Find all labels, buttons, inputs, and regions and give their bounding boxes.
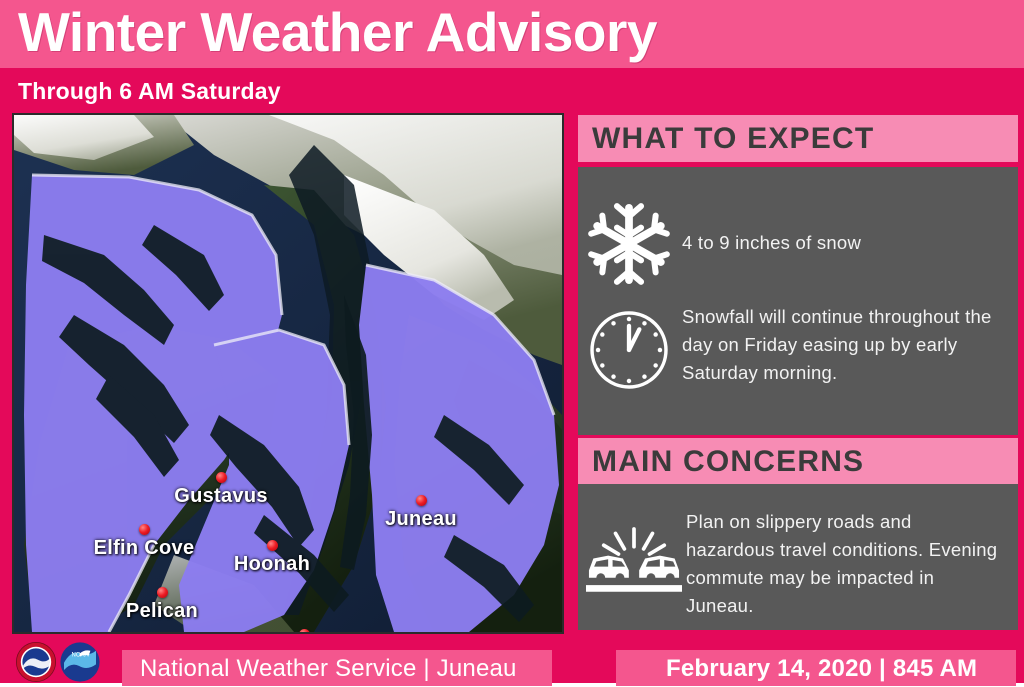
expect-text-snowfall-amount: 4 to 9 inches of snow — [682, 229, 1002, 257]
map-city-label: Pelican — [126, 600, 198, 623]
section-header-main-concerns: MAIN CONCERNS — [578, 438, 1018, 485]
section-body-what-to-expect: 4 to 9 inches of snow — [578, 167, 1018, 435]
map-city-label: Juneau — [385, 508, 457, 531]
clock-icon — [586, 307, 672, 393]
map-pin-icon — [267, 540, 278, 551]
map-pin-icon — [299, 629, 310, 635]
map-city-label: Elfin Cove — [94, 537, 195, 560]
advisory-valid-time: Through 6 AM Saturday — [18, 68, 281, 112]
snowflake-icon — [586, 201, 672, 287]
concern-text-travel: Plan on slippery roads and hazardous tra… — [686, 508, 1004, 620]
advisory-map[interactable]: Gustavus Elfin Cove Hoonah Pelican Tenak… — [12, 113, 564, 634]
section-heading-label: WHAT TO EXPECT — [592, 115, 874, 162]
section-header-what-to-expect: WHAT TO EXPECT — [578, 115, 1018, 162]
page-title: Winter Weather Advisory — [18, 0, 657, 66]
map-pin-icon — [216, 472, 227, 483]
nws-logo — [16, 642, 56, 682]
weather-advisory-poster: Winter Weather Advisory Through 6 AM Sat… — [0, 0, 1024, 683]
map-city-label: Hoonah — [234, 553, 310, 576]
section-body-main-concerns: Plan on slippery roads and hazardous tra… — [578, 484, 1018, 630]
map-city-label: Gustavus — [174, 485, 268, 508]
expect-text-timing: Snowfall will continue throughout the da… — [682, 303, 1002, 387]
footer-timestamp-label: February 14, 2020 | 845 AM — [666, 650, 977, 686]
section-heading-label: MAIN CONCERNS — [592, 438, 864, 485]
car-crash-icon — [586, 524, 682, 596]
noaa-logo: NOAA — [60, 642, 100, 682]
svg-text:NOAA: NOAA — [71, 652, 88, 658]
map-pin-icon — [416, 495, 427, 506]
footer-office-label: National Weather Service | Juneau — [140, 650, 517, 686]
map-pin-icon — [157, 587, 168, 598]
map-pin-icon — [139, 524, 150, 535]
